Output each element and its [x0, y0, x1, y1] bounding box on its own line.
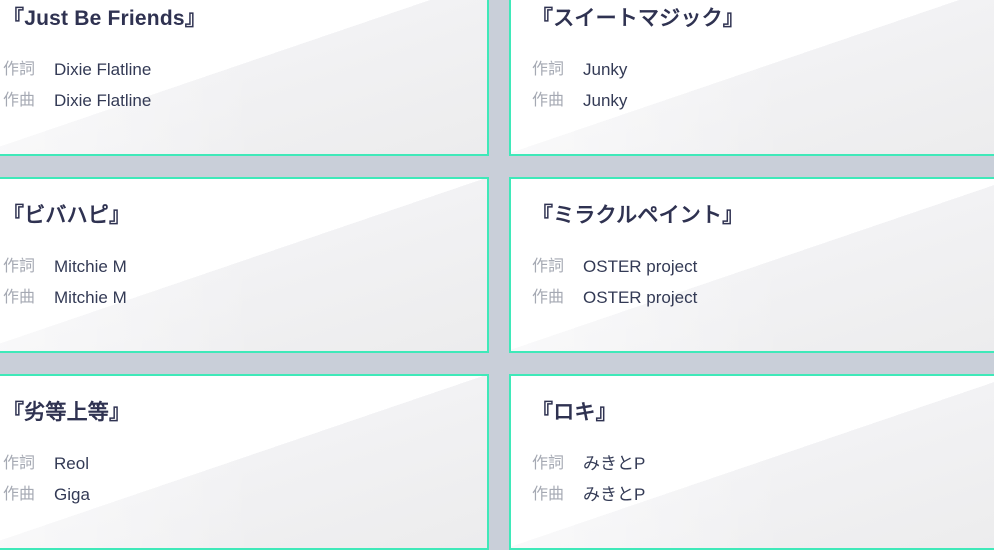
song-credits: 作詞 Mitchie M 作曲 Mitchie M: [3, 255, 487, 310]
lyrics-label: 作詞: [532, 452, 564, 477]
song-card-body: 『ミラクルペイント』 作詞 OSTER project 作曲 OSTER pro…: [511, 179, 994, 311]
song-card[interactable]: 『ビバハピ』 作詞 Mitchie M 作曲 Mitchie M: [0, 177, 489, 353]
lyrics-value: Junky: [583, 58, 627, 83]
lyrics-value: OSTER project: [583, 255, 697, 280]
song-title: 『スイートマジック』: [532, 6, 994, 32]
music-label: 作曲: [3, 89, 35, 114]
lyrics-label: 作詞: [532, 255, 564, 280]
song-card[interactable]: 『ロキ』 作詞 みきとP 作曲 みきとP: [509, 374, 994, 550]
song-title: 『劣等上等』: [3, 400, 487, 426]
music-value: Giga: [54, 483, 90, 508]
song-card-body: 『ビバハピ』 作詞 Mitchie M 作曲 Mitchie M: [0, 179, 487, 311]
lyrics-value: Dixie Flatline: [54, 58, 151, 83]
song-card[interactable]: 『Just Be Friends』 作詞 Dixie Flatline 作曲 D…: [0, 0, 489, 156]
song-credits: 作詞 Dixie Flatline 作曲 Dixie Flatline: [3, 58, 487, 113]
lyrics-value: Reol: [54, 452, 90, 477]
music-value: Mitchie M: [54, 286, 127, 311]
song-card[interactable]: 『スイートマジック』 作詞 Junky 作曲 Junky: [509, 0, 994, 156]
music-value: OSTER project: [583, 286, 697, 311]
song-title: 『Just Be Friends』: [3, 6, 487, 32]
song-credits: 作詞 Reol 作曲 Giga: [3, 452, 487, 507]
music-value: Junky: [583, 89, 627, 114]
song-credits: 作詞 みきとP 作曲 みきとP: [532, 452, 994, 507]
song-card-body: 『スイートマジック』 作詞 Junky 作曲 Junky: [511, 0, 994, 114]
lyrics-label: 作詞: [532, 58, 564, 83]
music-label: 作曲: [532, 89, 564, 114]
music-label: 作曲: [532, 483, 564, 508]
music-value: Dixie Flatline: [54, 89, 151, 114]
music-label: 作曲: [3, 286, 35, 311]
music-value: みきとP: [583, 483, 645, 508]
song-title: 『ビバハピ』: [3, 203, 487, 229]
music-label: 作曲: [532, 286, 564, 311]
song-card-body: 『ロキ』 作詞 みきとP 作曲 みきとP: [511, 376, 994, 508]
song-title: 『ロキ』: [532, 400, 994, 426]
song-card[interactable]: 『劣等上等』 作詞 Reol 作曲 Giga: [0, 374, 489, 550]
song-card-body: 『劣等上等』 作詞 Reol 作曲 Giga: [0, 376, 487, 508]
lyrics-value: みきとP: [583, 452, 645, 477]
song-card-grid: 『Just Be Friends』 作詞 Dixie Flatline 作曲 D…: [0, 0, 994, 550]
song-credits: 作詞 OSTER project 作曲 OSTER project: [532, 255, 994, 310]
lyrics-label: 作詞: [3, 58, 35, 83]
song-card[interactable]: 『ミラクルペイント』 作詞 OSTER project 作曲 OSTER pro…: [509, 177, 994, 353]
lyrics-label: 作詞: [3, 255, 35, 280]
song-credits: 作詞 Junky 作曲 Junky: [532, 58, 994, 113]
lyrics-label: 作詞: [3, 452, 35, 477]
lyrics-value: Mitchie M: [54, 255, 127, 280]
music-label: 作曲: [3, 483, 35, 508]
song-title: 『ミラクルペイント』: [532, 203, 994, 229]
song-card-body: 『Just Be Friends』 作詞 Dixie Flatline 作曲 D…: [0, 0, 487, 114]
